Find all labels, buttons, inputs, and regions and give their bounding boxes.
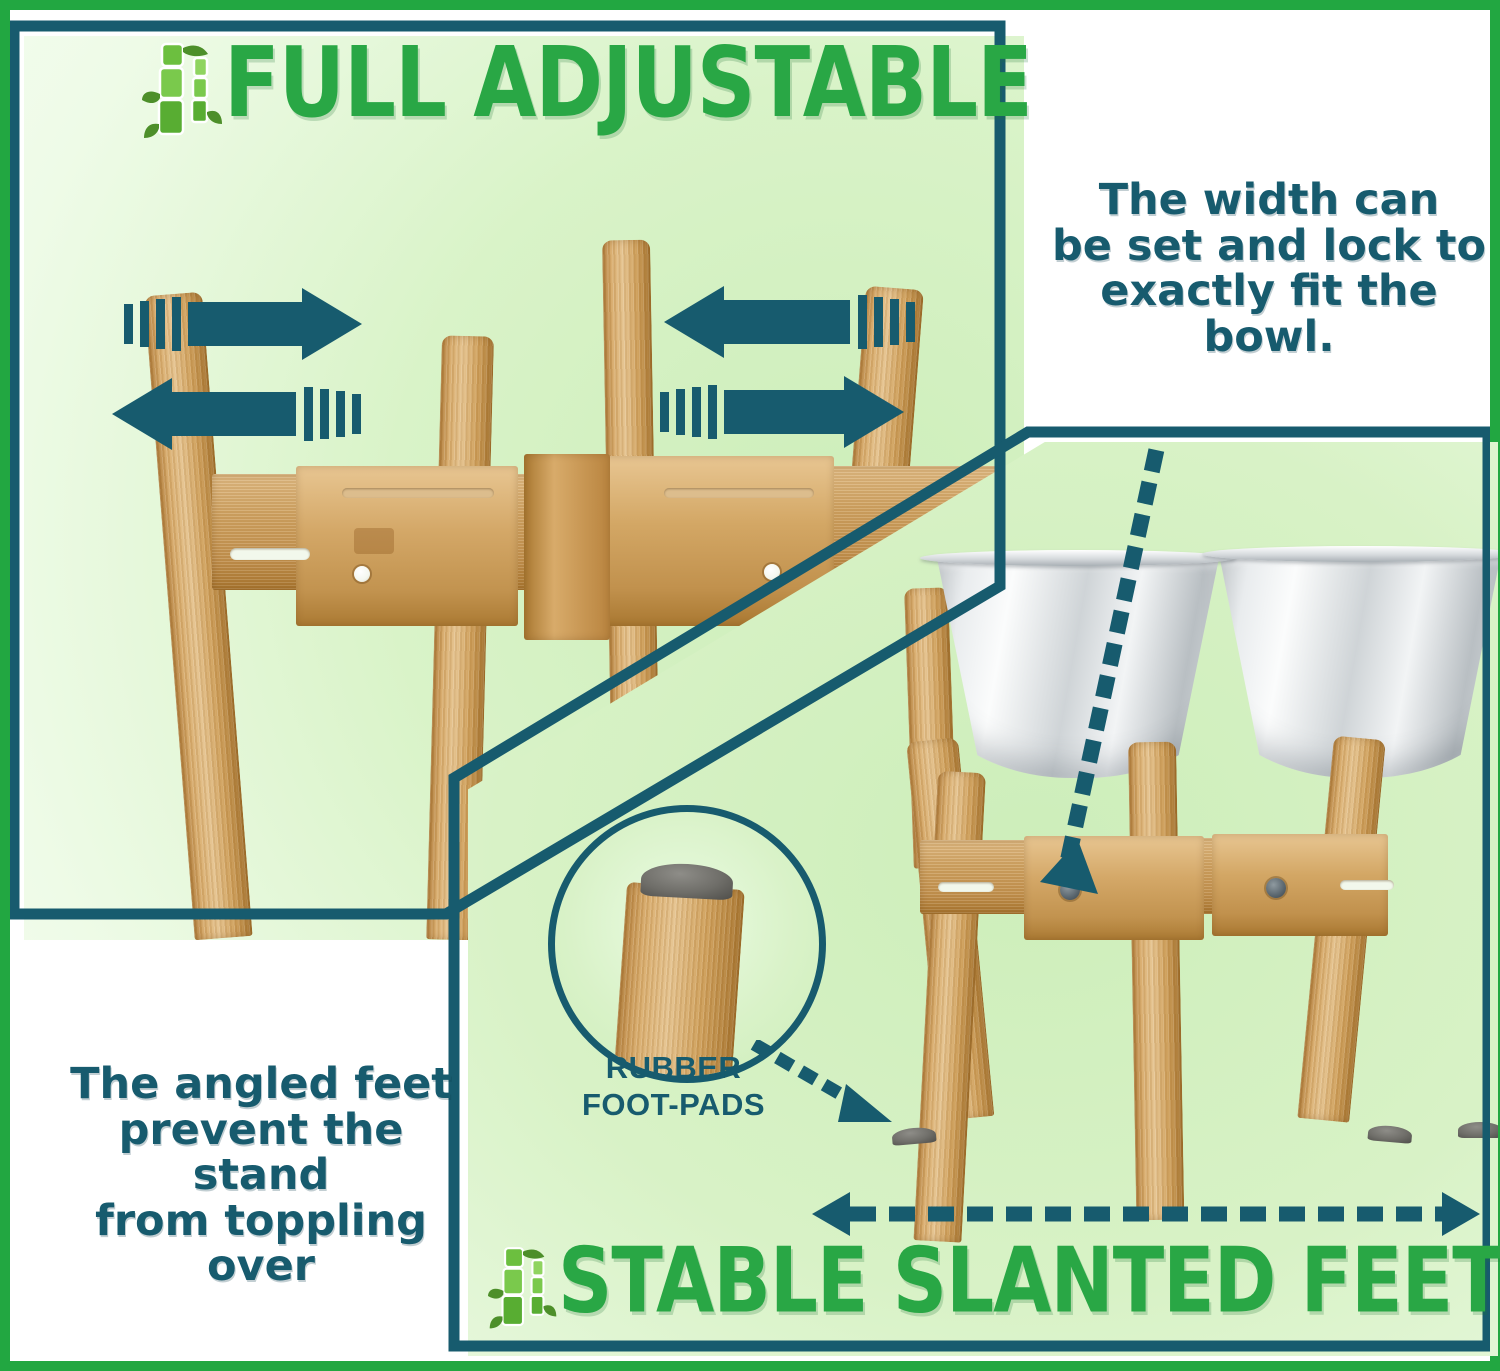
arrow-right-icon — [124, 288, 384, 360]
bamboo-icon — [142, 38, 224, 148]
arrow-left-icon — [112, 378, 382, 450]
callout-angled-feet: The angled feet prevent the stand from t… — [52, 1062, 470, 1290]
screw-hole — [354, 566, 370, 582]
arrow-left-icon — [664, 286, 936, 358]
arrow-right-icon — [660, 376, 928, 448]
bamboo-icon — [488, 1242, 558, 1338]
rubber-foot-pad — [640, 862, 734, 901]
brand-stamp — [354, 528, 394, 554]
section-title-stable-feet: STABLE SLANTED FEET — [558, 1229, 1500, 1334]
screw-hole — [764, 564, 780, 580]
page-title: FULL ADJUSTABLE — [224, 26, 1032, 139]
adjust-slot — [664, 488, 814, 498]
slider-tongue — [524, 454, 610, 640]
label-rubber-foot-pads: RUBBER FOOT-PADS — [566, 1050, 781, 1123]
adjust-slot — [342, 488, 494, 498]
infographic-frame: FULL ADJUSTABLE STABLE SLANTED FEET The … — [0, 0, 1500, 1371]
callout-width-lock: The width can be set and lock to exactly… — [1038, 178, 1500, 360]
adjust-slot — [230, 548, 310, 560]
